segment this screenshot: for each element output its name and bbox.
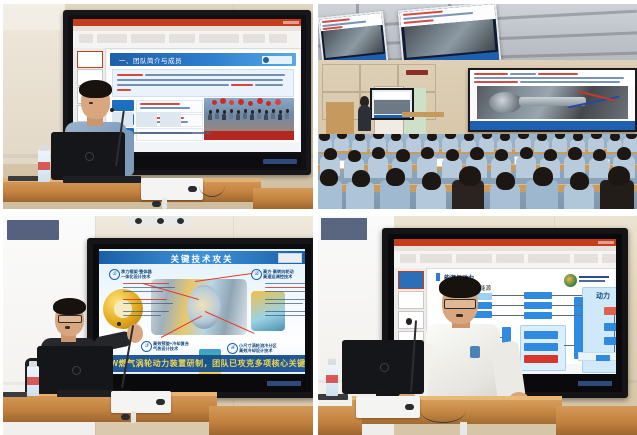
panel-top-right (318, 4, 637, 209)
slide-corner-tag (278, 253, 302, 263)
slide-title: 关键技术攻关 (170, 253, 233, 265)
item-label-1: 承力框架·整体器一体化设计技术 (121, 269, 152, 279)
slide-thumbnail[interactable] (398, 291, 424, 309)
panel-top-left: 一、团队简介与成员 (3, 4, 313, 209)
bottle-label (38, 162, 50, 170)
item-label-2: 高方·高转向轮动高速运调控技术 (263, 269, 294, 279)
gear-component-image (103, 289, 143, 329)
wall-blue-panel (321, 218, 367, 240)
flow-node (604, 307, 616, 315)
slide-banner: 依托3MW燃气涡轮动力装置研制，团队已攻克多项核心关键技术 (99, 355, 305, 372)
photo-collage: 一、团队简介与成员 (0, 0, 637, 435)
cable (199, 174, 225, 197)
led-wall-display (468, 68, 637, 132)
cable (420, 398, 466, 423)
slide-canvas: 关键技术攻关 ① 承力框架·整体器一体化设计技术 ② 高方·高转向轮动高速运调控… (99, 249, 305, 374)
flow-bus (574, 297, 583, 359)
table-row-label (112, 100, 134, 111)
presenter-hair (53, 298, 86, 315)
speaker-podium (326, 102, 354, 134)
keyboard[interactable] (63, 176, 141, 183)
bottle-cap (40, 145, 48, 151)
exit-sign (406, 70, 428, 75)
microphone-head-icon (406, 318, 412, 325)
shirt-logo-icon (470, 346, 480, 358)
audience-area (318, 134, 637, 209)
projector-box (111, 391, 171, 413)
item-label-4: 小尺寸涡轮流冷分区高效冷却设计技术 (239, 343, 277, 353)
slide-title-band: 关键技术攻关 (99, 251, 305, 264)
powerpoint-toolbar (394, 251, 616, 269)
ceiling-screen-image (323, 25, 384, 58)
microphone-head-icon (117, 322, 121, 326)
bottle-cap (29, 361, 37, 367)
ceiling-screen-image (404, 19, 496, 58)
flow-node (524, 292, 552, 299)
board-bottom-bezel (99, 378, 305, 390)
display-board: 关键技术攻关 ① 承力框架·整体器一体化设计技术 ② 高方·高转向轮动高速运调控… (87, 238, 313, 398)
slide-thumbnail[interactable] (77, 51, 103, 68)
flow-right-label: 动力 (596, 291, 610, 301)
item-number-1: ① (109, 269, 120, 280)
side-wall-top (3, 4, 65, 30)
cable-bundle (3, 392, 27, 397)
eyeglasses-icon (444, 299, 476, 309)
item-label-3: 高效预旋+冷却复合气热设计技术 (153, 341, 189, 351)
slide-canvas: 一、团队简介与成员 (107, 50, 299, 142)
item-number-4: ④ (227, 343, 238, 354)
flow-node (524, 312, 552, 319)
presenter-hair (79, 80, 112, 98)
wall-blue-panel (7, 220, 59, 240)
slide-page-badge (596, 355, 610, 361)
flow-node (604, 337, 616, 345)
presenter-mouth (456, 314, 463, 317)
lectern-desk (3, 394, 217, 422)
item-number-3: ③ (141, 341, 152, 352)
side-table-right (556, 406, 637, 435)
lectern-desk-right (253, 188, 313, 209)
speaker-torso (358, 105, 371, 131)
institute-logo-icon (564, 274, 610, 288)
presenter-mouth (65, 326, 70, 329)
bottle-label (326, 375, 338, 383)
institute-logo-icon (262, 56, 292, 64)
team-group-photo (204, 98, 294, 140)
desktop-monitor (51, 132, 125, 180)
slide-title-band: 一、团队简介与成员 (110, 53, 296, 66)
bottle-label (27, 377, 39, 385)
led-slide-image (477, 86, 629, 119)
projector-leg (131, 411, 136, 423)
projector-box (141, 178, 203, 200)
slide-thumbnail[interactable] (398, 271, 424, 289)
stage-banner (204, 131, 294, 140)
powerpoint-titlebar (73, 19, 301, 26)
panel-bottom-left: 关键技术攻关 ① 承力框架·整体器一体化设计技术 ② 高方·高转向轮动高速运调控… (3, 216, 313, 435)
led-slide-header (470, 70, 635, 86)
led-slide-banner (470, 121, 635, 130)
cable-bundle (8, 176, 42, 181)
slide-paragraph (112, 69, 294, 97)
slide-banner-text: 依托3MW燃气涡轮动力装置研制，团队已攻克多项核心关键技术 (99, 358, 305, 369)
powerpoint-toolbar (73, 31, 301, 49)
projector-leg (162, 198, 167, 209)
microphone-head-icon (110, 108, 114, 112)
turbine-disc-image (187, 285, 221, 329)
flow-node (524, 302, 552, 309)
desktop-monitor (37, 346, 113, 394)
podium-leg (460, 422, 467, 435)
flow-node (524, 343, 558, 351)
table-row (136, 128, 203, 141)
bottle-cap (328, 359, 336, 365)
flow-node (524, 331, 558, 339)
camera-bar (127, 216, 191, 226)
title-accent-bar (436, 273, 440, 281)
slide-caption (131, 132, 211, 134)
presenter-mouth (89, 102, 93, 104)
eyeglasses-icon (58, 315, 82, 323)
flow-node-highlight (524, 355, 558, 363)
slide-title: 一、团队简介与成员 (119, 55, 182, 65)
projector-box (356, 396, 420, 418)
presenter-hair (439, 276, 481, 298)
powerpoint-titlebar (394, 239, 616, 246)
lectern-desk-right (209, 406, 313, 435)
item-number-2: ② (251, 269, 262, 280)
side-table (402, 112, 444, 117)
flow-node (604, 323, 616, 331)
panel-bottom-right: 能源与动力 （一次）能源 (318, 216, 637, 435)
